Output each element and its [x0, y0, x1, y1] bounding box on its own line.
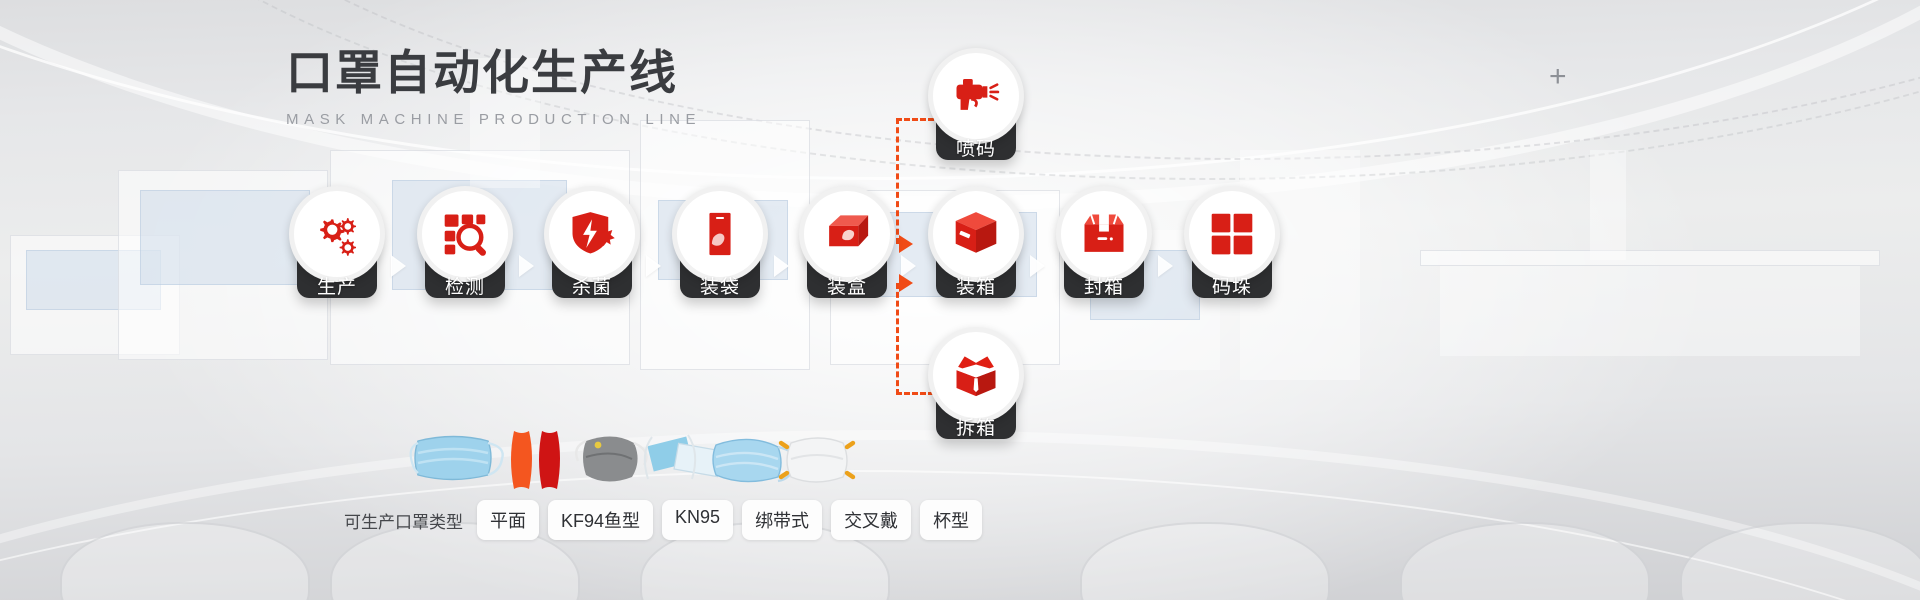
flow-arrow-white: [646, 255, 661, 277]
mask-type-chip-flat[interactable]: 平面: [477, 500, 539, 540]
node-label: 封箱: [1056, 272, 1152, 299]
background-factory-ghost: [140, 190, 310, 285]
shield-bolt-icon: [544, 186, 640, 282]
flow-arrow-white: [1030, 255, 1045, 277]
spray-gun-icon: [928, 48, 1024, 144]
gears-icon: [289, 186, 385, 282]
background-mask-ghost: [1400, 522, 1650, 600]
closed-carton-icon: [928, 186, 1024, 282]
mask-type-chip-tie-on[interactable]: 绑带式: [742, 500, 822, 540]
background-mask-ghost: [1080, 522, 1330, 600]
page-subtitle: MASK MACHINE PRODUCTION LINE: [286, 111, 701, 128]
mask-photo-cup: [765, 425, 875, 495]
background-mask-ghost: [1680, 522, 1920, 600]
node-label: 装箱: [928, 272, 1024, 299]
banner-canvas: + 口罩自动化生产线 MASK MACHINE PRODUCTION LINE …: [0, 0, 1920, 600]
branch-dashed-line: [896, 118, 899, 244]
mask-type-chip-cross-wear[interactable]: 交叉戴: [831, 500, 911, 540]
page-title-block: 口罩自动化生产线 MASK MACHINE PRODUCTION LINE: [286, 46, 701, 128]
branch-dashed-line: [896, 283, 899, 395]
background-factory-ghost: [1440, 266, 1860, 356]
mask-type-chip-kf94[interactable]: KF94鱼型: [548, 500, 653, 540]
mask-type-chip-list: 平面KF94鱼型KN95绑带式交叉戴杯型: [477, 500, 991, 540]
branch-arrow-from-unboxing: [899, 274, 913, 292]
flow-arrow-white: [519, 255, 534, 277]
open-carton-icon: [928, 327, 1024, 423]
plus-decoration: +: [1549, 62, 1567, 92]
node-label: 生产: [289, 272, 385, 299]
magnifier-inspection-icon: [417, 186, 513, 282]
node-label: 杀菌: [544, 272, 640, 299]
branch-arrow-to-cartoning: [899, 235, 913, 253]
mask-type-chip-kn95[interactable]: KN95: [662, 500, 733, 540]
node-label: 拆箱: [928, 413, 1024, 440]
mask-type-chip-cup[interactable]: 杯型: [920, 500, 982, 540]
flow-arrow-white: [1158, 255, 1173, 277]
flow-arrow-white: [774, 255, 789, 277]
node-label: 装袋: [672, 272, 768, 299]
background-factory-ghost: [1420, 250, 1880, 266]
background-factory-ghost: [10, 235, 180, 355]
page-title: 口罩自动化生产线: [286, 46, 701, 100]
open-tray-box-icon: [799, 186, 895, 282]
node-label: 码垛: [1184, 272, 1280, 299]
pallet-grid-icon: [1184, 186, 1280, 282]
node-label: 装盒: [799, 272, 895, 299]
mask-types-label: 可生产口罩类型: [344, 508, 463, 533]
pouch-bag-icon: [672, 186, 768, 282]
mask-types-row: 可生产口罩类型 平面KF94鱼型KN95绑带式交叉戴杯型: [344, 500, 991, 540]
background-factory-ghost: [26, 250, 161, 310]
node-label: 检测: [417, 272, 513, 299]
node-label: 喷码: [928, 134, 1024, 161]
flow-arrow-white: [391, 255, 406, 277]
sealed-carton-icon: [1056, 186, 1152, 282]
background-mask-ghost: [60, 522, 310, 600]
background-factory-ghost: [1590, 150, 1626, 260]
